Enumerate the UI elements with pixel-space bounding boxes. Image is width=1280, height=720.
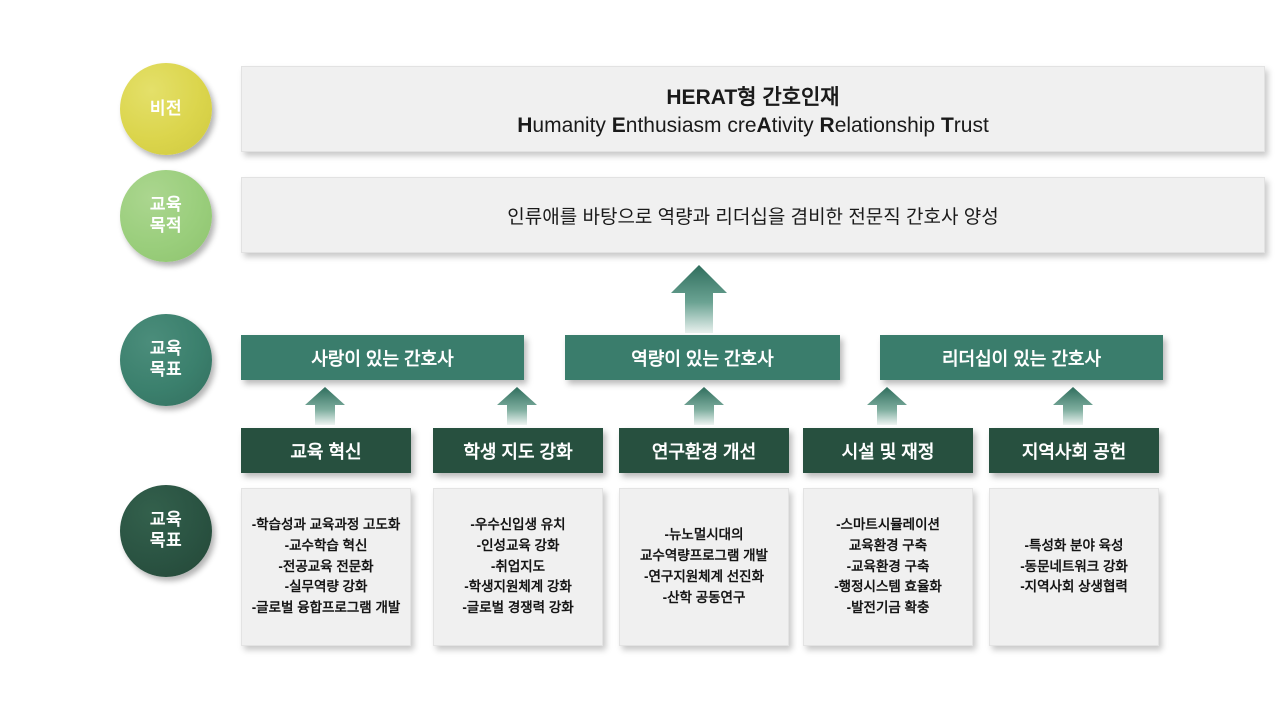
column-body-community-contribution: -특성화 분야 육성 -동문네트워크 강화 -지역사회 상생협력 — [989, 488, 1159, 646]
education-purpose-text: 인류애를 바탕으로 역량과 리더십을 겸비한 전문직 간호사 양성 — [507, 202, 998, 229]
column-header-1-label: 교육 혁신 — [290, 438, 361, 464]
list-item: -특성화 분야 육성 — [1025, 536, 1124, 557]
column-header-2-label: 학생 지도 강화 — [463, 438, 572, 464]
list-item: -지역사회 상생협력 — [1020, 577, 1128, 598]
list-item: -산학 공동연구 — [663, 588, 746, 609]
goal-banner-leadership-label: 리더십이 있는 간호사 — [942, 345, 1101, 371]
column-body-education-innovation: -학습성과 교육과정 고도화 -교수학습 혁신 -전공교육 전문화 -실무역량 … — [241, 488, 411, 646]
list-item: -뉴노멀시대의 — [664, 525, 743, 546]
badge-vision: 비전 — [120, 63, 212, 155]
diagram-canvas: 비전 교육 목적 교육 목표 교육 목표 HERAT형 간호인재 Humanit… — [0, 0, 1280, 720]
list-item: -인성교육 강화 — [477, 536, 560, 557]
column-header-education-innovation: 교육 혁신 — [241, 428, 411, 473]
arrow-up-icon-col-1 — [305, 385, 345, 425]
list-item: -교육환경 구축 — [847, 557, 930, 578]
column-header-student-guidance: 학생 지도 강화 — [433, 428, 603, 473]
badge-objective-line-1: 교육 — [150, 510, 182, 531]
column-body-student-guidance: -우수신입생 유치 -인성교육 강화 -취업지도 -학생지원체계 강화 -글로벌… — [433, 488, 603, 646]
arrow-up-icon-col-4 — [867, 385, 907, 425]
column-header-3-label: 연구환경 개선 — [652, 438, 756, 464]
list-item: 교육환경 구축 — [849, 536, 927, 557]
column-header-community-contribution: 지역사회 공헌 — [989, 428, 1159, 473]
column-header-5-label: 지역사회 공헌 — [1022, 438, 1126, 464]
list-item: -연구지원체계 선진화 — [644, 567, 764, 588]
list-item: -학생지원체계 강화 — [464, 577, 572, 598]
badge-education-goal: 교육 목표 — [120, 314, 212, 406]
badge-purpose-line-1: 교육 — [150, 195, 182, 216]
badge-objective-line-2: 목표 — [150, 531, 182, 552]
list-item: -발전기금 확충 — [847, 598, 930, 619]
list-item: -취업지도 — [491, 557, 545, 578]
vision-title: HERAT형 간호인재 — [666, 81, 839, 111]
arrow-up-icon-col-5 — [1053, 385, 1093, 425]
badge-education-objective: 교육 목표 — [120, 485, 212, 577]
column-header-4-label: 시설 및 재정 — [842, 438, 935, 464]
arrow-up-icon-col-3 — [684, 385, 724, 425]
badge-goal-line-2: 목표 — [150, 360, 182, 381]
column-header-facility-finance: 시설 및 재정 — [803, 428, 973, 473]
list-item: -글로벌 융합프로그램 개발 — [252, 598, 401, 619]
list-item: 교수역량프로그램 개발 — [640, 546, 768, 567]
list-item: -스마트시뮬레이션 — [836, 515, 940, 536]
vision-panel: HERAT형 간호인재 Humanity Enthusiasm creAtivi… — [241, 66, 1265, 152]
list-item: -교수학습 혁신 — [285, 536, 368, 557]
vision-acronym: Humanity Enthusiasm creAtivity Relations… — [517, 114, 989, 138]
goal-banner-competency: 역량이 있는 간호사 — [565, 335, 840, 380]
badge-purpose-line-2: 목적 — [150, 216, 182, 237]
goal-banner-leadership: 리더십이 있는 간호사 — [880, 335, 1163, 380]
goal-banner-love-label: 사랑이 있는 간호사 — [311, 345, 453, 371]
badge-goal-line-1: 교육 — [150, 339, 182, 360]
list-item: -글로벌 경쟁력 강화 — [462, 598, 573, 619]
goal-banner-love: 사랑이 있는 간호사 — [241, 335, 524, 380]
column-header-research-environment: 연구환경 개선 — [619, 428, 789, 473]
goal-banner-competency-label: 역량이 있는 간호사 — [631, 345, 773, 371]
column-body-research-environment: -뉴노멀시대의 교수역량프로그램 개발 -연구지원체계 선진화 -산학 공동연구 — [619, 488, 789, 646]
list-item: -동문네트워크 강화 — [1020, 557, 1128, 578]
list-item: -전공교육 전문화 — [278, 557, 373, 578]
list-item: -실무역량 강화 — [285, 577, 368, 598]
list-item: -학습성과 교육과정 고도화 — [252, 515, 401, 536]
education-purpose-panel: 인류애를 바탕으로 역량과 리더십을 겸비한 전문직 간호사 양성 — [241, 177, 1265, 253]
list-item: -행정시스템 효율화 — [834, 577, 942, 598]
arrow-up-icon-main — [671, 265, 727, 333]
badge-education-purpose: 교육 목적 — [120, 170, 212, 262]
column-body-facility-finance: -스마트시뮬레이션 교육환경 구축 -교육환경 구축 -행정시스템 효율화 -발… — [803, 488, 973, 646]
arrow-up-icon-col-2 — [497, 385, 537, 425]
list-item: -우수신입생 유치 — [470, 515, 565, 536]
badge-vision-line-1: 비전 — [150, 99, 182, 120]
